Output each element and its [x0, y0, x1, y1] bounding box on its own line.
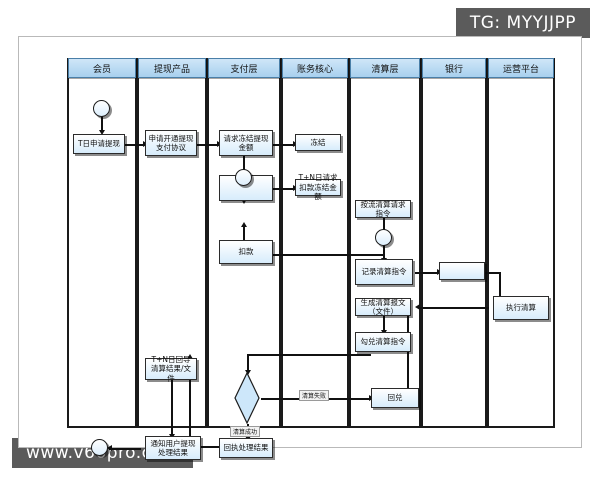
connector-n5-n6	[273, 188, 295, 190]
node-clearing-request[interactable]: 扣款	[219, 240, 273, 264]
connector-n9-n10	[415, 272, 439, 274]
node-label: 通知用户提现处理结果	[148, 439, 198, 458]
node-refund[interactable]: 回兑	[371, 388, 419, 408]
node-business-process[interactable]: T+N日回导清算结果/文件	[145, 358, 197, 380]
arrowhead-n7-n5	[241, 222, 247, 227]
node-label: 扣款	[239, 247, 254, 256]
node-deduct[interactable]: T+N日请求扣款冻结金额	[295, 179, 341, 196]
connector-start-n1	[101, 116, 103, 131]
edge-label-success: 清算成功	[230, 426, 260, 437]
node-label: 按流清算请求指令	[358, 200, 408, 219]
node-label: 记录清算指令	[362, 267, 407, 276]
decision-clearing-result[interactable]	[234, 372, 260, 424]
start-node	[93, 100, 110, 117]
swimlane-bank	[421, 58, 487, 428]
node-reconcile-clearing[interactable]: 生成清算报文（文件）	[355, 298, 411, 316]
lane-header-clearing: 清算层	[350, 58, 420, 78]
node-label: 执行清算	[506, 303, 536, 312]
diagram-root: TG: MYYJJPP www.v66pro.com 会员 提现产品 支付层 账…	[0, 0, 600, 480]
node-payment-receipt-result[interactable]: 回执处理结果	[219, 438, 273, 458]
wait-node-clearing	[375, 229, 392, 246]
connector-n2-n3	[197, 144, 219, 146]
wait-node-payment	[235, 169, 252, 186]
telegram-watermark: TG: MYYJJPP	[456, 8, 590, 38]
lane-header-platform: 运营平台	[488, 58, 554, 78]
connector-n3-n4	[273, 144, 295, 146]
node-label: 勾兑清算指令	[361, 337, 406, 346]
diagram-frame: 会员 提现产品 支付层 账务核心 清算层 银行 运营平台	[18, 36, 582, 448]
end-node	[91, 439, 108, 456]
node-execute-clearing[interactable]	[439, 262, 485, 280]
connector-n12-n11	[419, 307, 489, 309]
node-label: T日申请提现	[78, 139, 120, 148]
node-apply-agreement[interactable]: 申请开通提现支付协议	[145, 130, 197, 156]
lane-header-payment: 支付层	[208, 58, 280, 78]
node-label: 回执处理结果	[224, 443, 269, 452]
swimlane-grid: 会员 提现产品 支付层 账务核心 清算层 银行 运营平台	[67, 58, 555, 428]
node-label: 冻结	[311, 138, 326, 147]
connector-n13-dec	[247, 354, 371, 356]
swimlane-platform	[487, 58, 555, 428]
lane-header-member: 会员	[68, 58, 136, 78]
node-freeze[interactable]: 冻结	[295, 134, 341, 151]
node-label: 回兑	[388, 393, 403, 402]
node-label: 请求冻结提现金额	[222, 134, 270, 153]
connector-n14-n17	[171, 380, 173, 436]
arrowhead-n12-n11	[415, 304, 420, 310]
edge-label-fail: 清算失败	[299, 390, 329, 401]
node-record-clearing[interactable]: 按流清算请求指令	[355, 200, 411, 218]
node-label: 申请开通提现支付协议	[148, 134, 194, 153]
swimlane-account	[281, 58, 349, 428]
connector-n7-n5	[243, 226, 245, 240]
node-request-freeze[interactable]: 请求冻结提现金额	[219, 130, 273, 156]
connector-n17-end	[109, 448, 141, 450]
connector-n3-wait	[243, 156, 245, 170]
connector-n7-n8-h	[273, 254, 385, 256]
lane-header-bank: 银行	[422, 58, 486, 78]
node-label: T+N日回导清算结果/文件	[148, 355, 194, 383]
node-apply-withdraw[interactable]: T日申请提现	[73, 134, 125, 154]
node-import-result[interactable]: 执行清算	[493, 296, 549, 320]
diamond-shape	[234, 372, 260, 424]
connector-n15-n11	[407, 316, 409, 388]
node-generate-file[interactable]: 记录清算指令	[355, 259, 413, 285]
node-clearing-receipt-result[interactable]: 勾兑清算指令	[355, 332, 411, 352]
node-label: 生成清算报文（文件）	[358, 298, 408, 317]
lane-header-account: 账务核心	[282, 58, 348, 78]
node-notify-user[interactable]: 通知用户提现处理结果	[145, 436, 201, 460]
lane-header-product: 提现产品	[138, 58, 206, 78]
node-label: T+N日请求扣款冻结金额	[298, 173, 338, 201]
connector-n1-n2	[125, 144, 145, 146]
